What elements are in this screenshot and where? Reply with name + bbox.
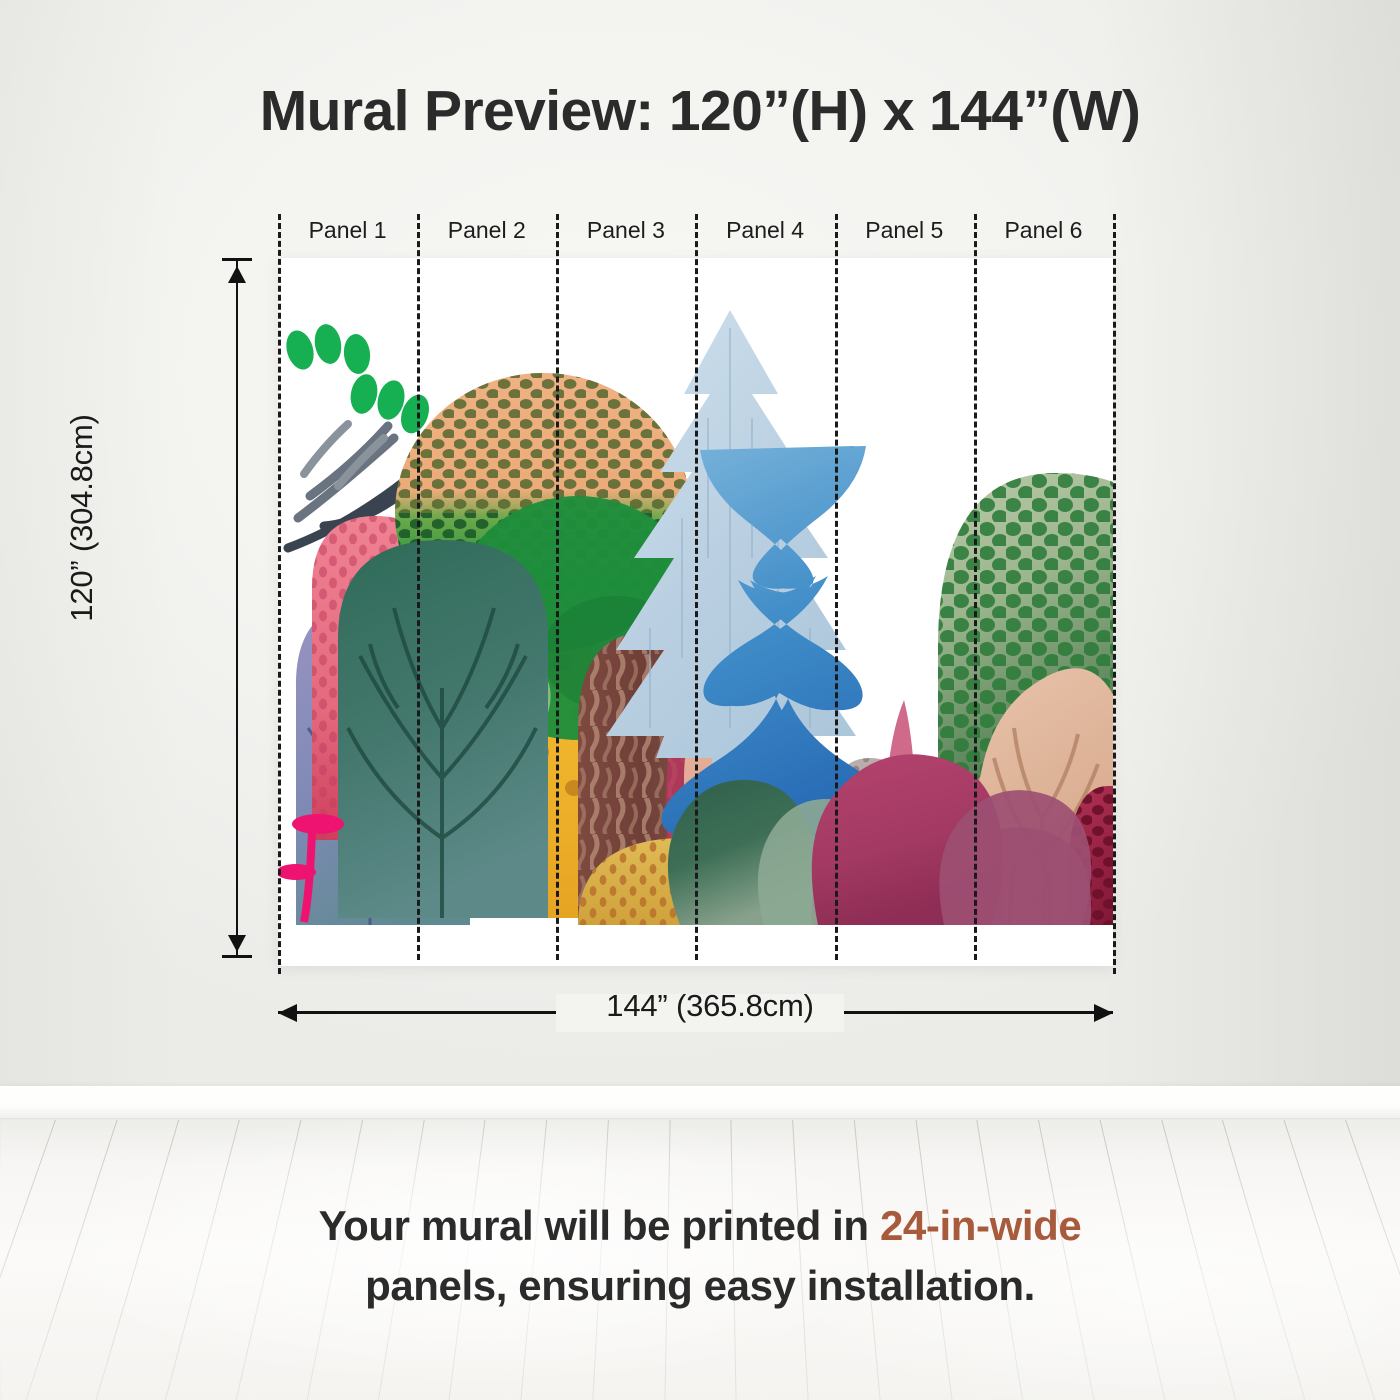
- footer-caption: Your mural will be printed in 24-in-wide…: [0, 1196, 1400, 1316]
- wall-shadow-right: [1100, 0, 1400, 1086]
- height-tick-bottom: [222, 955, 252, 958]
- caption-line-1: Your mural will be printed in 24-in-wide: [0, 1196, 1400, 1256]
- width-dimension-label: 144” (365.8cm): [548, 988, 872, 1024]
- height-dimension-label: 120” (304.8cm): [64, 358, 100, 678]
- panel-seam-4: [835, 214, 838, 960]
- width-arrow-left-icon: [278, 1004, 297, 1022]
- mural-preview-image[interactable]: [278, 258, 1113, 966]
- page-title: Mural Preview: 120”(H) x 144”(W): [0, 78, 1400, 144]
- panel-label-6: Panel 6: [974, 214, 1113, 250]
- height-tick-top: [222, 258, 252, 261]
- mural-preview-screen: Mural Preview: 120”(H) x 144”(W) Panel 1…: [0, 0, 1400, 1400]
- baseboard: [0, 1086, 1400, 1120]
- panel-label-1: Panel 1: [278, 214, 417, 250]
- panel-label-2: Panel 2: [417, 214, 556, 250]
- panel-seam-1: [417, 214, 420, 960]
- caption-text-before: Your mural will be printed in: [319, 1202, 880, 1249]
- height-arrow-up-icon: [228, 266, 246, 283]
- panel-label-4: Panel 4: [696, 214, 835, 250]
- height-dimension-line: [236, 258, 238, 958]
- panel-label-5: Panel 5: [835, 214, 974, 250]
- panel-seam-5: [974, 214, 977, 960]
- panel-seam-right: [1113, 214, 1116, 974]
- height-arrow-down-icon: [228, 935, 246, 952]
- panel-seam-3: [695, 214, 698, 960]
- panel-seam-2: [556, 214, 559, 960]
- caption-line-2: panels, ensuring easy installation.: [0, 1256, 1400, 1316]
- caption-accent: 24-in-wide: [880, 1202, 1081, 1249]
- width-arrow-right-icon: [1094, 1004, 1113, 1022]
- panel-label-3: Panel 3: [556, 214, 695, 250]
- panel-seam-left: [278, 214, 281, 974]
